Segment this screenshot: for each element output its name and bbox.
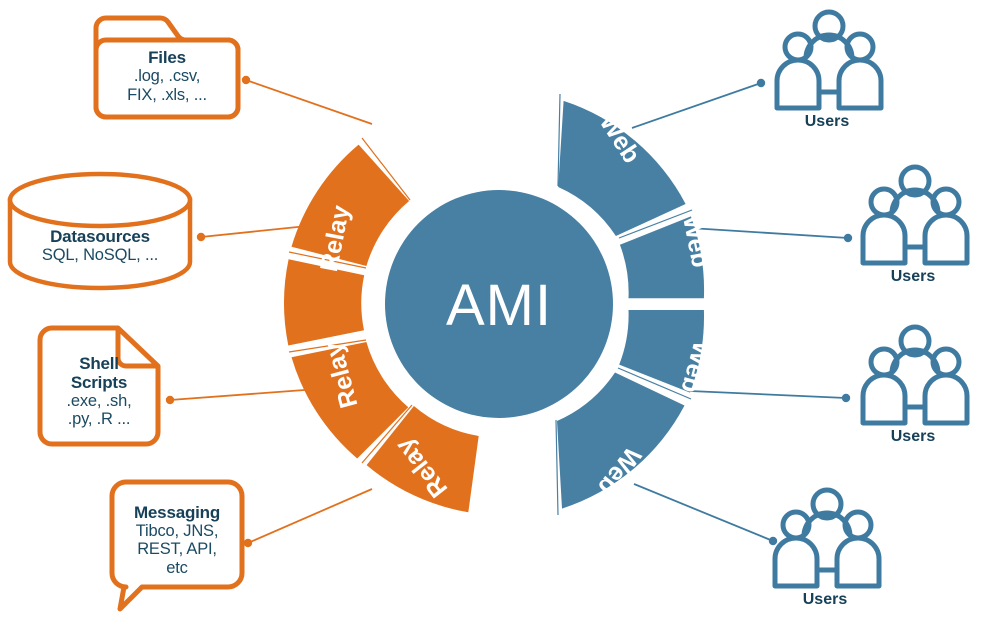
users-caption-2: Users	[853, 268, 973, 286]
users-group-icon[interactable]	[863, 167, 967, 263]
users-caption-1: Users	[767, 113, 887, 131]
users-caption-4: Users	[765, 591, 885, 609]
users-caption-3: Users	[853, 428, 973, 446]
users-group-icon[interactable]	[775, 490, 879, 586]
users-icons-layer	[0, 0, 991, 624]
users-group-icon[interactable]	[777, 12, 881, 108]
users-group-icon[interactable]	[863, 327, 967, 423]
diagram-canvas: AMI Relay Relay Relay Relay Web Web Web …	[0, 0, 991, 624]
